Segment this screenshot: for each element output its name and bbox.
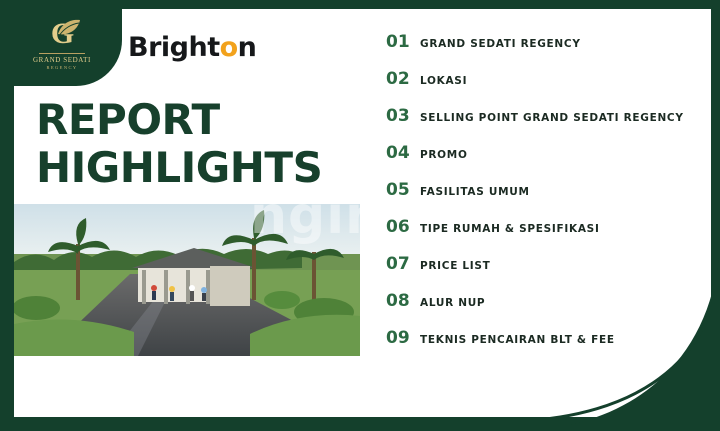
agenda-number: 02 [386, 69, 420, 89]
logo-divider [39, 53, 85, 54]
agenda-label: SELLING POINT GRAND SEDATI REGENCY [420, 112, 684, 124]
agenda-list: 01 GRAND SEDATI REGENCY 02 LOKASI 03 SEL… [386, 32, 706, 365]
list-item[interactable]: 01 GRAND SEDATI REGENCY [386, 32, 706, 69]
agenda-label: LOKASI [420, 75, 467, 87]
frame-right-bar [711, 0, 720, 431]
agenda-number: 05 [386, 180, 420, 200]
agenda-number: 09 [386, 328, 420, 348]
frame-bottom-bar [0, 417, 720, 431]
page-title: REPORT HIGHLIGHTS [36, 96, 366, 192]
list-item[interactable]: 09 TEKNIS PENCAIRAN BLT & FEE [386, 328, 706, 365]
page-title-line2: HIGHLIGHTS [36, 144, 366, 192]
agenda-label: FASILITAS UMUM [420, 186, 530, 198]
agenda-number: 07 [386, 254, 420, 274]
agenda-label: TEKNIS PENCAIRAN BLT & FEE [420, 334, 615, 346]
agenda-label: PROMO [420, 149, 468, 161]
list-item[interactable]: 06 TIPE RUMAH & SPESIFIKASI [386, 217, 706, 254]
list-item[interactable]: 08 ALUR NUP [386, 291, 706, 328]
logo-subname: REGENCY [46, 65, 77, 70]
project-photo [14, 204, 360, 356]
page-title-line1: REPORT [36, 96, 366, 144]
agenda-number: 08 [386, 291, 420, 311]
list-item[interactable]: 03 SELLING POINT GRAND SEDATI REGENCY [386, 106, 706, 143]
brand-text-o: o [220, 32, 238, 63]
list-item[interactable]: 02 LOKASI [386, 69, 706, 106]
agenda-number: 04 [386, 143, 420, 163]
agenda-label: TIPE RUMAH & SPESIFIKASI [420, 223, 600, 235]
list-item[interactable]: 04 PROMO [386, 143, 706, 180]
logo-name: GRAND SEDATI [33, 56, 91, 65]
logo-monogram-mark: G [32, 16, 92, 52]
agenda-number: 06 [386, 217, 420, 237]
slide: G GRAND SEDATI REGENCY Brighton REPORT H… [0, 0, 720, 431]
agenda-label: ALUR NUP [420, 297, 485, 309]
agenda-label: GRAND SEDATI REGENCY [420, 38, 581, 50]
agenda-number: 03 [386, 106, 420, 126]
grand-sedati-logo: G GRAND SEDATI REGENCY [14, 12, 110, 74]
agenda-label: PRICE LIST [420, 260, 491, 272]
list-item[interactable]: 05 FASILITAS UMUM [386, 180, 706, 217]
agenda-number: 01 [386, 32, 420, 52]
list-item[interactable]: 07 PRICE LIST [386, 254, 706, 291]
brand-text-post: n [238, 32, 257, 63]
brand-text-pre: Bright [128, 32, 220, 63]
leaf-icon [56, 18, 82, 45]
brighton-wordmark: Brighton [128, 32, 256, 63]
